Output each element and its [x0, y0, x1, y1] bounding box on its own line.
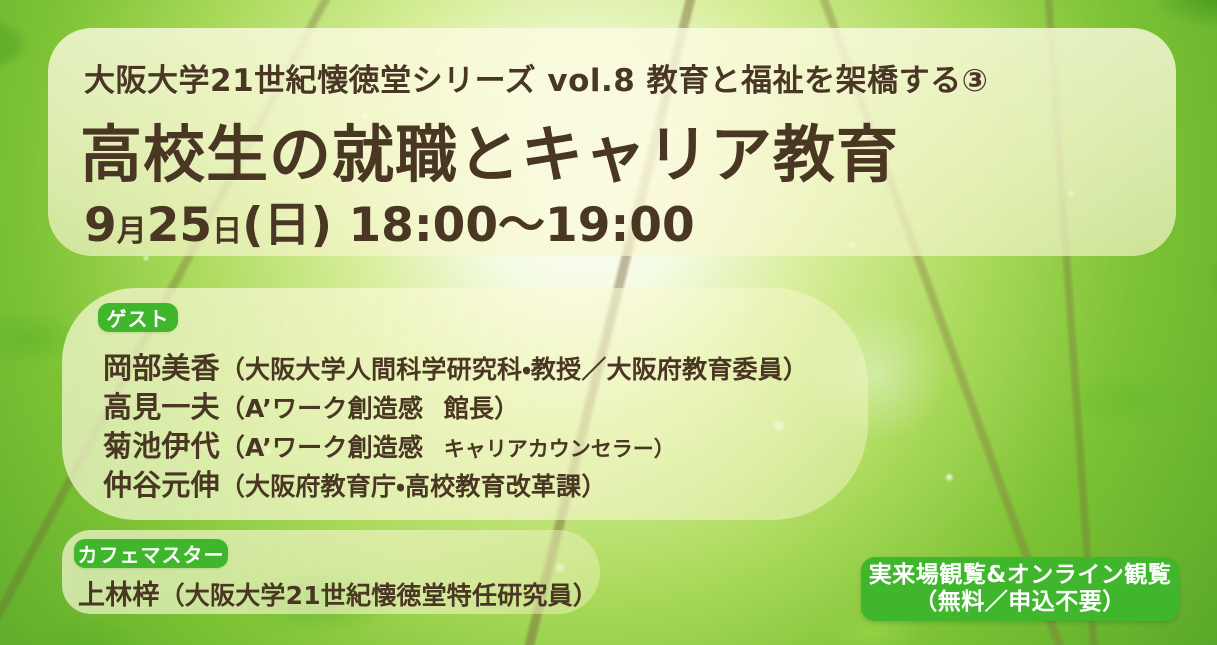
- cafe-master-entry: 上林梓（大阪大学21世紀懐徳堂特任研究員）: [78, 573, 598, 612]
- guest-list-item: 菊池伊代（A’ワーク創造感 キャリアカウンセラー）: [103, 423, 675, 465]
- datetime-time-range: 18:00〜19:00: [348, 198, 694, 253]
- guest-name: 仲谷元伸: [103, 468, 220, 502]
- cafe-master-badge: カフェマスター: [74, 539, 228, 568]
- page-title: 高校生の就職とキャリア教育: [80, 104, 899, 194]
- cafe-master-affiliation: （大阪大学21世紀懐徳堂特任研究員）: [160, 581, 598, 610]
- event-datetime: 9月25日(日) 18:00〜19:00: [84, 186, 695, 255]
- guest-name: 菊池伊代: [103, 429, 220, 463]
- series-subtitle: 大阪大学21世紀懐徳堂シリーズ vol.8 教育と福祉を架橋する③: [84, 55, 988, 100]
- guest-affiliation-pre: （A’ワーク創造感: [220, 433, 423, 462]
- guest-affiliation-pre: （A’ワーク創造感: [220, 394, 423, 423]
- guest-list-item: 仲谷元伸（大阪府教育庁・高校教育改革課）: [103, 462, 607, 504]
- guest-name: 高見一夫: [103, 390, 220, 424]
- cafe-master-name: 上林梓: [78, 580, 160, 611]
- datetime-day-unit: 日: [212, 214, 242, 249]
- attendance-line-2: （無料／申込不要）: [914, 589, 1126, 616]
- guest-affiliation: （大阪大学人間科学研究科・教授／大阪府教育委員）: [220, 355, 808, 384]
- attendance-info-badge: 実来場観覧&オンライン観覧 （無料／申込不要）: [861, 557, 1179, 621]
- datetime-weekday: (日): [242, 198, 332, 253]
- guest-list-item: 岡部美香（大阪大学人間科学研究科・教授／大阪府教育委員）: [103, 345, 808, 387]
- guest-badge: ゲスト: [98, 303, 178, 332]
- datetime-month: 9: [84, 198, 117, 253]
- event-poster: 大阪大学21世紀懐徳堂シリーズ vol.8 教育と福祉を架橋する③ 高校生の就職…: [0, 0, 1217, 645]
- datetime-month-unit: 月: [117, 214, 147, 249]
- guest-affiliation: （大阪府教育庁・高校教育改革課）: [220, 472, 607, 501]
- guest-list-item: 高見一夫（A’ワーク創造感 館長）: [103, 384, 519, 426]
- guest-affiliation-role: キャリアカウンセラー）: [444, 437, 675, 461]
- datetime-day: 25: [147, 198, 212, 253]
- attendance-line-1: 実来場観覧&オンライン観覧: [869, 562, 1172, 589]
- guest-name: 岡部美香: [103, 351, 220, 385]
- guest-affiliation-role: 館長）: [444, 394, 520, 423]
